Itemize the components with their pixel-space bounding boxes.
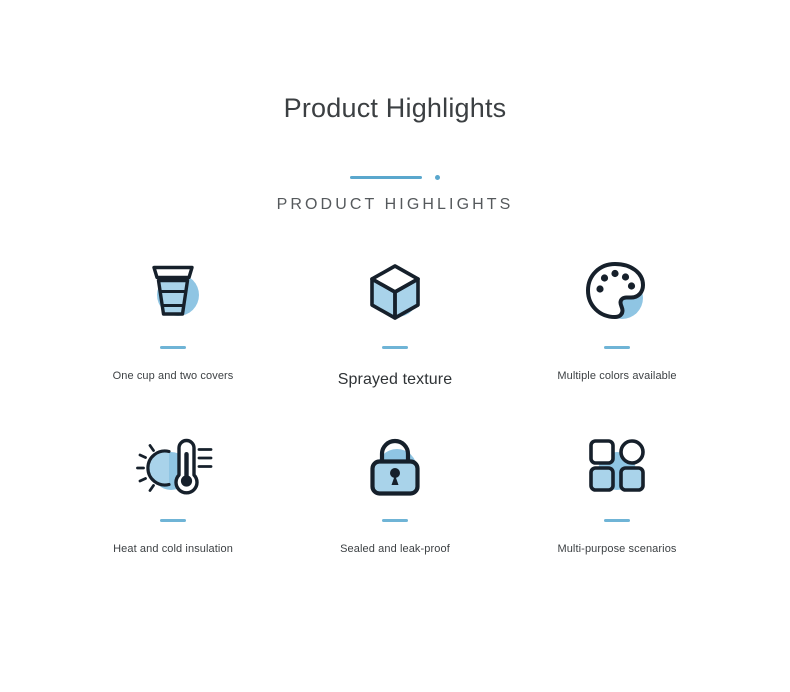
card-accent-rule bbox=[382, 519, 408, 522]
feature-label: Multi-purpose scenarios bbox=[557, 543, 676, 556]
page-title: Product Highlights bbox=[0, 95, 790, 122]
feature-card-multiple-colors: Multiple colors available bbox=[506, 256, 728, 433]
isometric-cube-icon bbox=[363, 256, 427, 330]
feature-label: One cup and two covers bbox=[113, 370, 234, 383]
feature-label: Heat and cold insulation bbox=[113, 543, 233, 556]
product-highlights-page: Product Highlights PRODUCT HIGHLIGHTS On… bbox=[0, 0, 790, 692]
card-accent-rule bbox=[604, 519, 630, 522]
card-accent-rule bbox=[604, 346, 630, 349]
feature-label: Sealed and leak-proof bbox=[340, 543, 450, 556]
page-header: Product Highlights PRODUCT HIGHLIGHTS bbox=[0, 0, 790, 213]
divider-dot-icon bbox=[435, 175, 440, 180]
section-divider bbox=[350, 173, 440, 181]
thermometer-sun-icon bbox=[131, 433, 215, 503]
feature-label: Multiple colors available bbox=[557, 370, 676, 383]
feature-card-heat-cold-insulation: Heat and cold insulation bbox=[62, 433, 284, 610]
grid-layout-icon bbox=[585, 433, 649, 503]
paint-palette-icon bbox=[584, 256, 650, 330]
card-accent-rule bbox=[382, 346, 408, 349]
divider-line-icon bbox=[350, 176, 422, 179]
padlock-icon bbox=[364, 433, 426, 503]
feature-card-multi-purpose-scenarios: Multi-purpose scenarios bbox=[506, 433, 728, 610]
feature-card-sprayed-texture: Sprayed texture bbox=[284, 256, 506, 433]
feature-label: Sprayed texture bbox=[338, 370, 452, 389]
page-subtitle: PRODUCT HIGHLIGHTS bbox=[0, 197, 790, 213]
feature-card-one-cup-two-covers: One cup and two covers bbox=[62, 256, 284, 433]
coffee-cup-with-lid-icon bbox=[141, 256, 205, 330]
card-accent-rule bbox=[160, 519, 186, 522]
feature-grid: One cup and two covers Sprayed texture bbox=[0, 256, 790, 610]
card-accent-rule bbox=[160, 346, 186, 349]
feature-card-sealed-leak-proof: Sealed and leak-proof bbox=[284, 433, 506, 610]
